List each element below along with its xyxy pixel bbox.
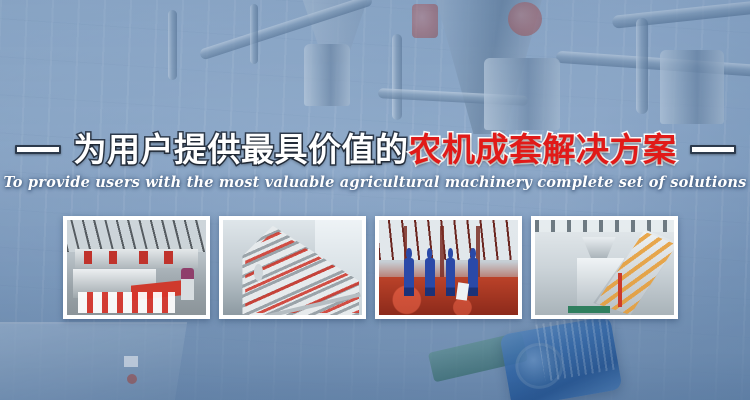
thumbnail-strip [63,216,678,319]
worker-figure [181,268,194,300]
hero-banner: 为用户提供最具价值的农机成套解决方案 To provide users with… [0,0,750,400]
worker-figure [446,258,456,296]
page-title: 为用户提供最具价值的农机成套解决方案 [74,133,677,166]
thumbnail-3-image [379,220,518,315]
headline-subtitle: To provide users with the most valuable … [0,174,750,191]
headline-rule-left [15,145,61,154]
red-panel [139,251,147,263]
red-panel [84,251,92,263]
white-sack [456,282,469,300]
headline-text-red: 农机成套解决方案 [409,130,677,169]
ceiling-beam [535,220,674,232]
conveyor-roller [254,264,264,281]
equipment-rack [75,249,197,268]
red-pipe [618,273,621,307]
thumbnail-1[interactable] [63,216,210,319]
thumbnail-2-image [223,220,362,315]
thumbnail-4[interactable] [531,216,678,319]
green-floor-strip [568,306,610,313]
thumbnail-1-image [67,220,206,315]
thumbnail-4-image [535,220,674,315]
product-trays [78,292,175,313]
worker-figure [404,258,414,296]
worker-figure [468,258,478,296]
red-panel [109,251,117,263]
feed-hopper [582,237,615,258]
headline-text-white: 为用户提供最具价值的 [74,130,409,169]
worker-figure [425,258,435,296]
background-vignette [0,0,750,400]
red-panel [164,251,172,263]
thumbnail-2[interactable] [219,216,366,319]
background-photo [0,0,750,400]
headline-row: 为用户提供最具价值的农机成套解决方案 [0,124,750,174]
thumbnail-3[interactable] [375,216,522,319]
headline-rule-right [690,145,736,154]
factory-roof-trusses [67,220,206,252]
